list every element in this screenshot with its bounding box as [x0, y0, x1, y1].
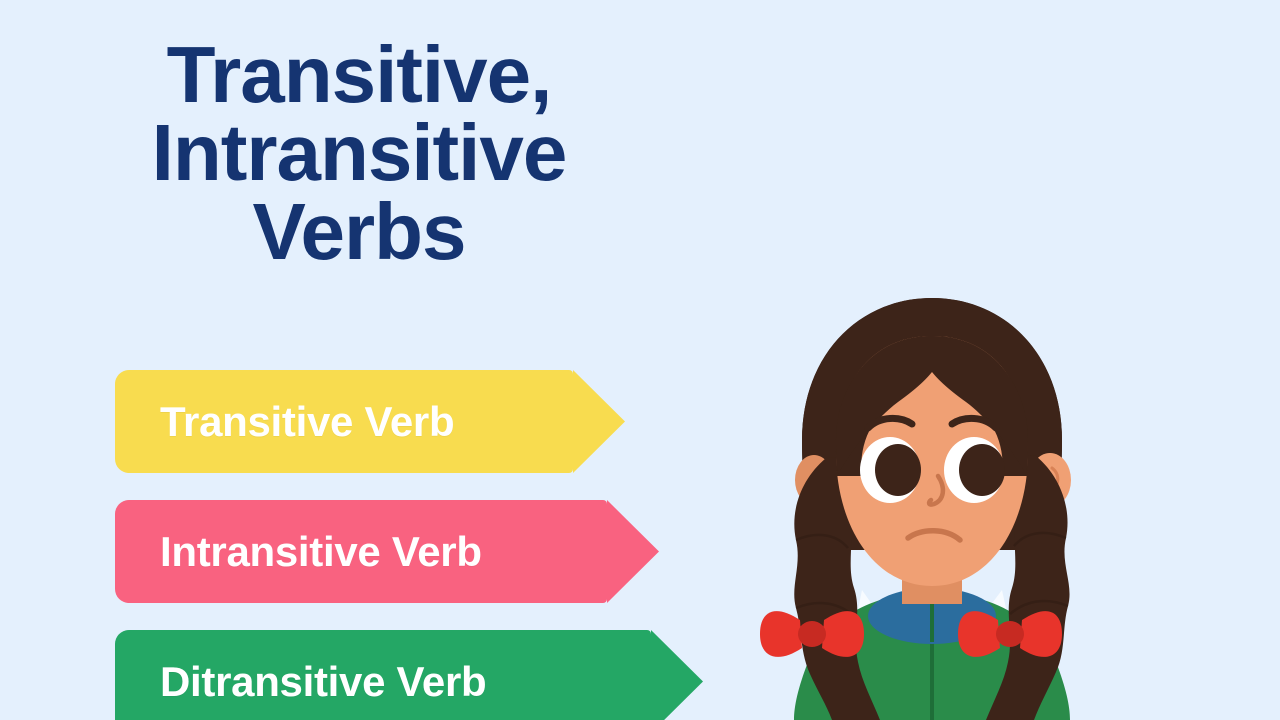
- banner-label: Intransitive Verb: [115, 528, 482, 576]
- page-title-line-1: Transitive,: [64, 36, 654, 114]
- banner-label: Transitive Verb: [115, 398, 454, 446]
- arrow-tip-icon: [573, 370, 625, 473]
- banner-ditransitive-verb[interactable]: Ditransitive Verb: [115, 630, 815, 720]
- banner-label: Ditransitive Verb: [115, 658, 486, 706]
- arrow-tip-icon: [651, 630, 703, 720]
- page-title-line-2: Intransitive: [64, 114, 654, 192]
- banner-intransitive-verb[interactable]: Intransitive Verb: [115, 500, 772, 603]
- slide-canvas: Transitive, Intransitive Verbs Transitiv…: [0, 0, 1280, 720]
- banner-transitive-verb[interactable]: Transitive Verb: [115, 370, 737, 473]
- arrow-tip-icon: [607, 500, 659, 603]
- page-title-line-3: Verbs: [64, 193, 654, 271]
- page-title: Transitive, Intransitive Verbs: [64, 36, 654, 271]
- girl-character-illustration: [740, 290, 1120, 720]
